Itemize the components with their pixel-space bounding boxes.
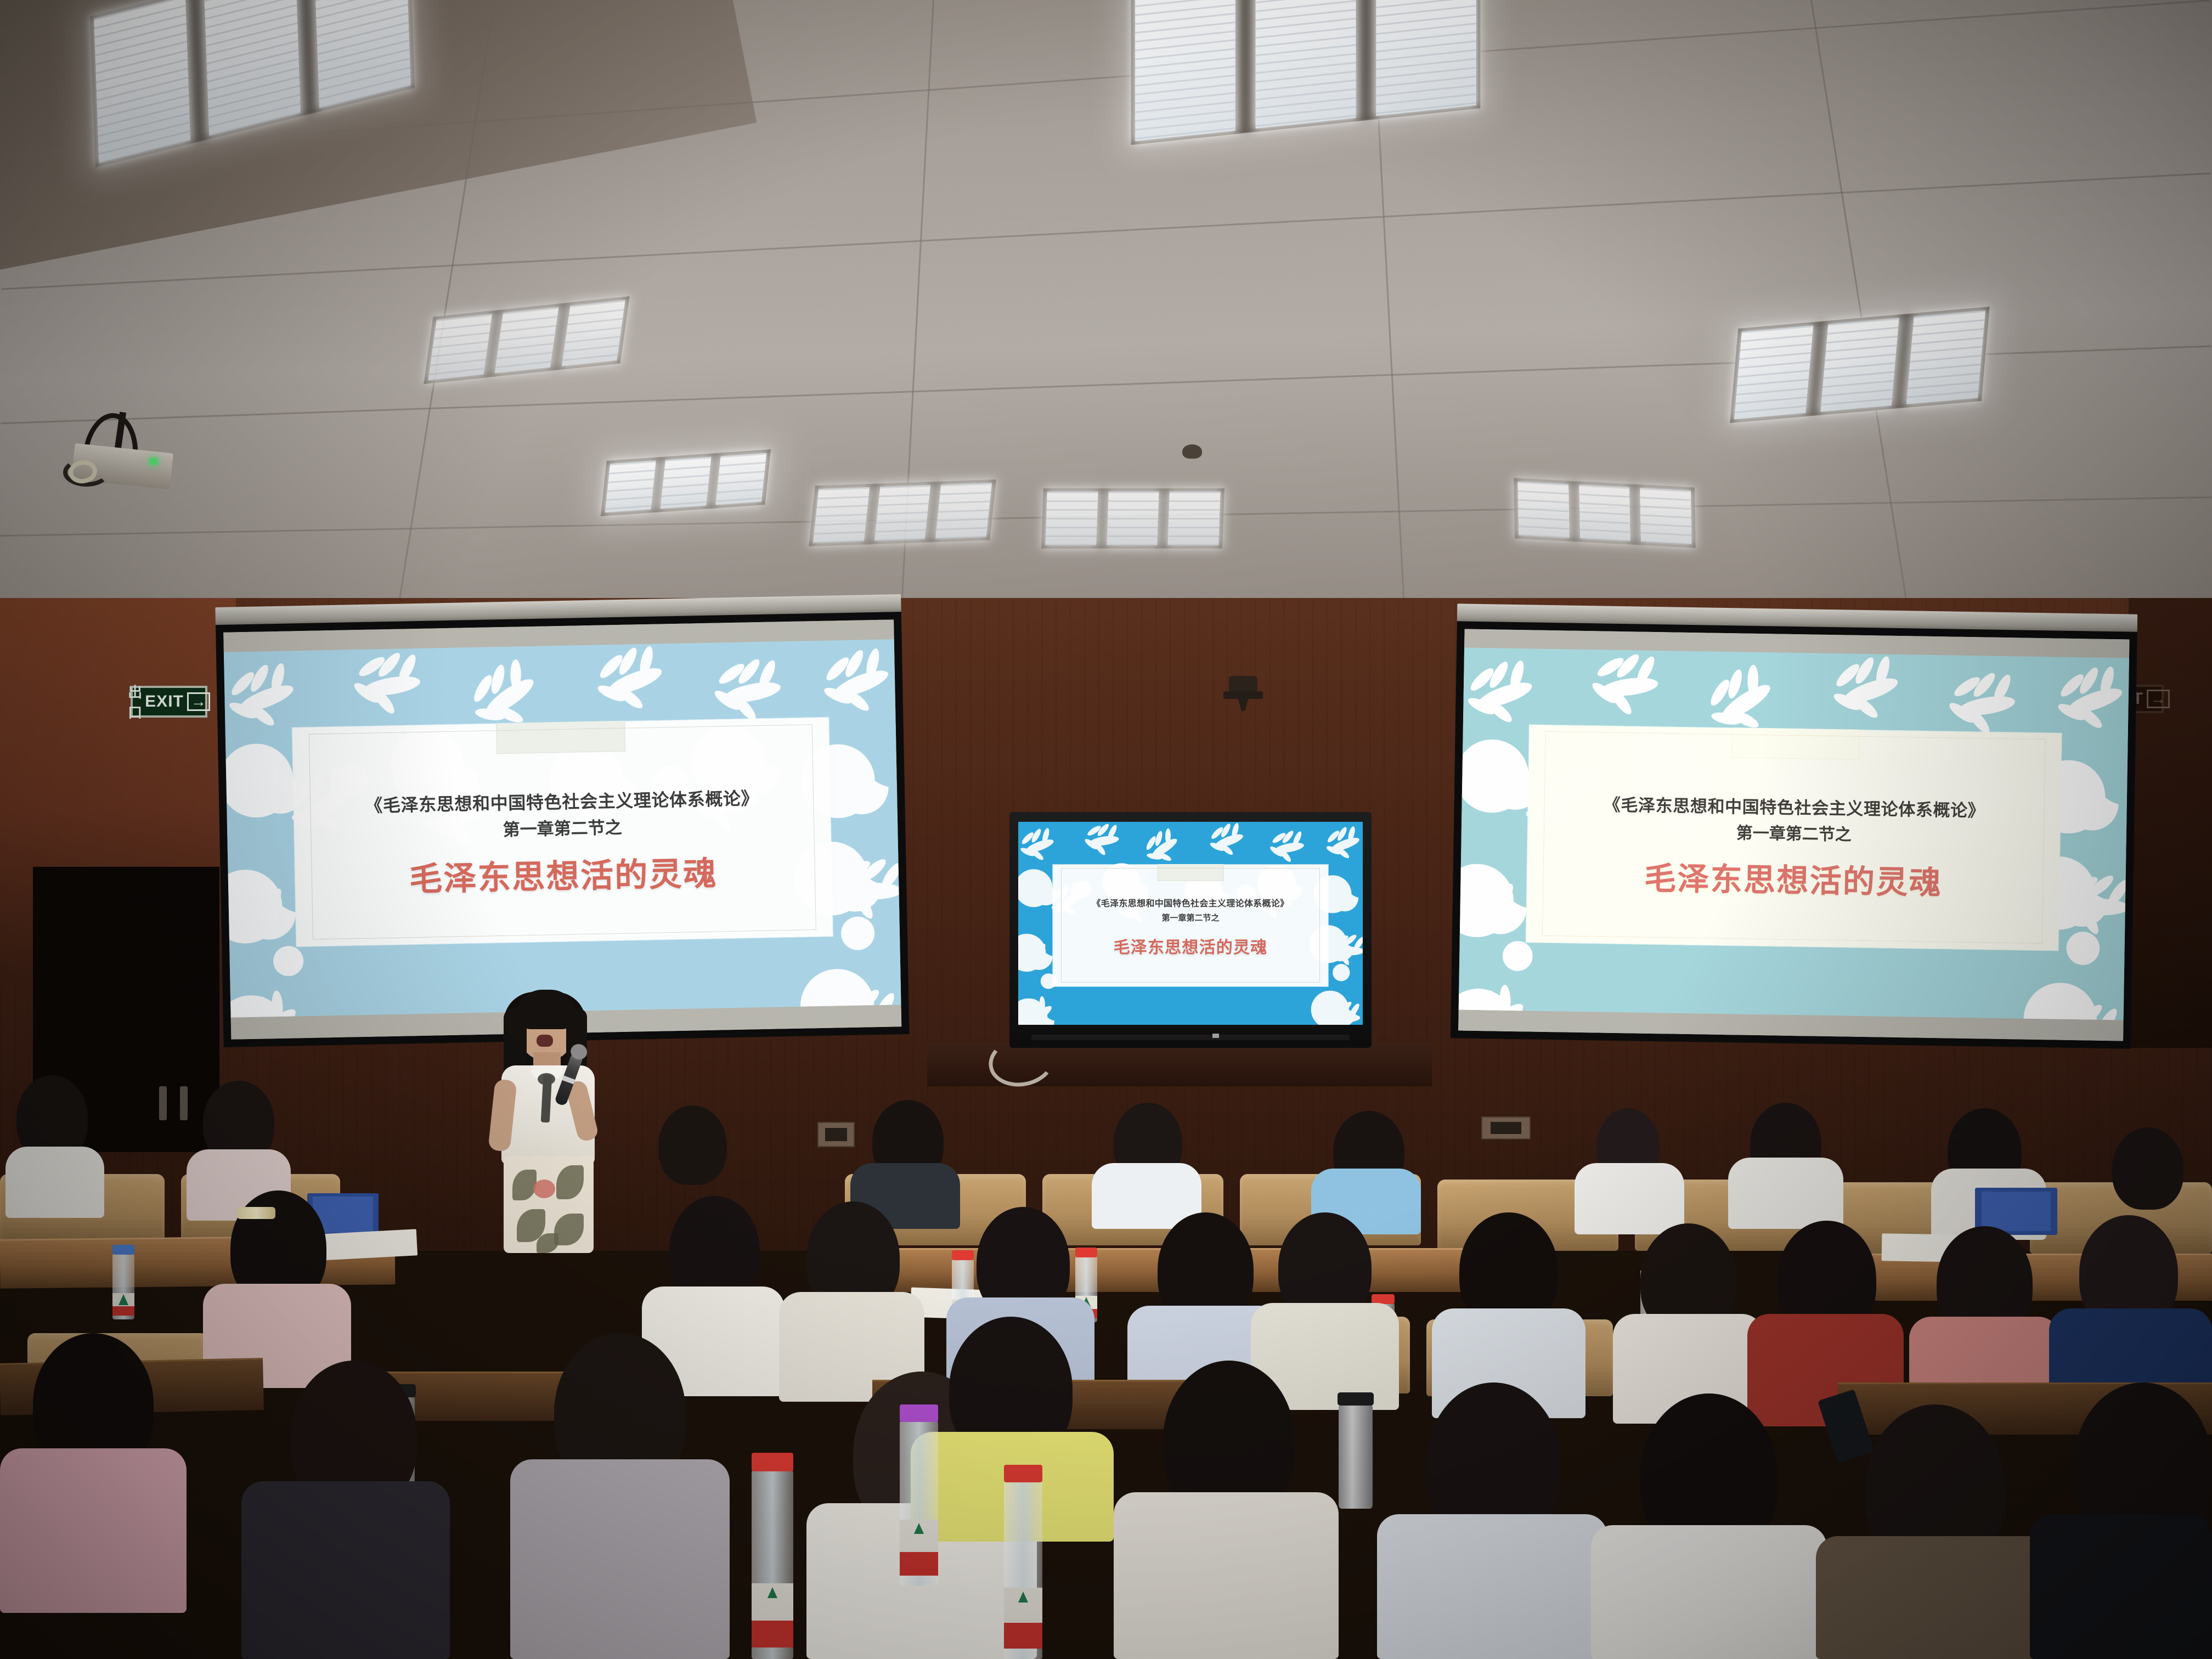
slide-main-title: 毛泽东思想活的灵魂 (1064, 934, 1317, 958)
bottle-cap (112, 1245, 134, 1255)
light-tube (561, 300, 625, 366)
wall-outlet[interactable] (1481, 1116, 1531, 1139)
light-tube (935, 483, 992, 539)
tv-power-led (1212, 1034, 1219, 1038)
ceiling (0, 0, 2212, 620)
wall-outlet[interactable] (817, 1122, 855, 1147)
light-tube (314, 0, 411, 109)
ceiling-light-fixture (601, 449, 771, 516)
light-tube (1640, 488, 1691, 544)
light-tube (1734, 325, 1813, 419)
handout-paper[interactable] (837, 1503, 897, 1547)
bottle-cap (1075, 1248, 1097, 1257)
light-tube (1135, 0, 1235, 141)
water-bottle[interactable] (112, 1254, 134, 1319)
slide-text-card: 《毛泽东思想和中国特色社会主义理论体系概论》 第一章第二节之 毛泽东思想活的灵魂 (1053, 865, 1328, 986)
camera-stem (1238, 698, 1249, 711)
audience-body (1575, 1163, 1684, 1234)
ceiling-light-fixture (424, 296, 629, 384)
right-projection-screen: 《毛泽东思想和中国特色社会主义理论体系概论》 第一章第二节之 毛泽东思想活的灵魂 (1451, 603, 2137, 1053)
tv-bezel: 《毛泽东思想和中国特色社会主义理论体系概论》 第一章第二节之 毛泽东思想活的灵魂 (1009, 812, 1372, 1048)
screen-surface: 《毛泽东思想和中国特色社会主义理论体系概论》 第一章第二节之 毛泽东思想活的灵魂 (1458, 629, 2129, 1041)
audience-body (2030, 1514, 2212, 1659)
screen-border: 《毛泽东思想和中国特色社会主义理论体系概论》 第一章第二节之 毛泽东思想活的灵魂 (1451, 621, 2137, 1048)
presenter-floral-skirt (504, 1156, 594, 1253)
presenter (472, 982, 625, 1256)
door-handle-icon[interactable] (159, 1086, 167, 1120)
microphone-band (562, 1075, 575, 1084)
light-tube (1579, 484, 1630, 541)
bottle-label (900, 1520, 938, 1576)
audience-body (1114, 1492, 1339, 1659)
light-tube (1107, 492, 1159, 545)
projector-status-led (150, 458, 157, 465)
exit-arrow-icon: → (187, 692, 210, 711)
light-tube (813, 487, 870, 543)
light-tube (660, 457, 711, 509)
audience-body (1728, 1158, 1843, 1229)
ceiling-smoke-detector-icon (1182, 444, 1202, 459)
light-tube (495, 307, 558, 374)
camera-bracket (1223, 691, 1263, 699)
light-tube (1045, 492, 1098, 545)
water-bottle[interactable] (1004, 1481, 1042, 1659)
ceiling-light-fixture (1730, 307, 1989, 423)
audience-body (241, 1481, 450, 1659)
ceiling-light-fixture (809, 479, 996, 546)
slide-text-card: 《毛泽东思想和中国特色社会主义理论体系概论》 第一章第二节之 毛泽东思想活的灵魂 (1526, 725, 2062, 950)
ceiling-light-fixture (1041, 488, 1224, 549)
audience-body (1816, 1536, 2057, 1659)
water-bottle[interactable] (900, 1421, 938, 1585)
light-tube (1906, 311, 1985, 404)
ceiling-light-fixture (1131, 0, 1480, 145)
wall-camera-icon (1223, 676, 1263, 712)
center-tv-monitor: 《毛泽东思想和中国特色社会主义理论体系概论》 第一章第二节之 毛泽东思想活的灵魂 (1009, 812, 1372, 1048)
right-wall (2129, 598, 2212, 1048)
exit-sign-english-label: EXIT (145, 692, 184, 711)
exit-arrow-icon: → (2147, 690, 2170, 708)
thermos-cap (1338, 1392, 1374, 1406)
light-tube (428, 314, 492, 380)
slide-main-title: 毛泽东思想活的灵魂 (1548, 851, 2038, 905)
bottle-label (752, 1583, 793, 1647)
hair-clip (237, 1207, 275, 1219)
screen-surface: 《毛泽东思想和中国特色社会主义理论体系概论》 第一章第二节之 毛泽东思想活的灵魂 (223, 619, 901, 1039)
light-tube (204, 0, 301, 136)
light-tube (94, 0, 190, 163)
exit-sign-chinese-label: 出口 (128, 681, 142, 722)
light-tube (1517, 482, 1569, 538)
bottle-cap (1004, 1465, 1042, 1482)
light-tube (1820, 318, 1899, 411)
bottle-cap (752, 1453, 793, 1471)
presenter-mouth (537, 1035, 553, 1047)
slide-main-title: 毛泽东思想活的灵魂 (316, 845, 810, 902)
exit-sign-left: 出口 EXIT → (131, 686, 207, 718)
bottle-cap (952, 1250, 974, 1260)
light-tube (715, 453, 766, 505)
slide-book-title: 《毛泽东思想和中国特色社会主义理论体系概论》 (1064, 896, 1317, 909)
slide-canvas: 《毛泽东思想和中国特色社会主义理论体系概论》 第一章第二节之 毛泽东思想活的灵魂 (224, 639, 901, 1017)
audience-body (0, 1448, 187, 1613)
door-handle-icon[interactable] (180, 1086, 188, 1120)
audience-body (5, 1147, 104, 1218)
slide-canvas: 《毛泽东思想和中国特色社会主义理论体系概论》 第一章第二节之 毛泽东思想活的灵魂 (1018, 822, 1363, 1025)
bottle-label (112, 1293, 134, 1316)
ceiling-projector (52, 403, 189, 502)
light-tube (605, 461, 656, 513)
tv-stand-bar (1031, 1035, 1350, 1040)
audience-body (1377, 1514, 1607, 1659)
light-tube (1376, 0, 1477, 116)
light-tube (1256, 0, 1356, 128)
audience-head (2112, 1127, 2183, 1210)
handout-paper[interactable] (318, 1229, 417, 1260)
lecture-hall-photo: 出口 EXIT → 出口 EXIT → (0, 0, 2212, 1659)
light-tube (1168, 492, 1221, 545)
bottle-label (1004, 1588, 1042, 1648)
slide-canvas: 《毛泽东思想和中国特色社会主义理论体系概论》 第一章第二节之 毛泽东思想活的灵魂 (1459, 648, 2129, 1020)
water-bottle[interactable] (752, 1470, 793, 1659)
audience-body (1591, 1525, 1827, 1659)
thermos-flask[interactable] (1339, 1404, 1373, 1509)
ceiling-light-fixture (1514, 478, 1695, 548)
audience-body (510, 1459, 730, 1659)
light-tube (874, 485, 931, 541)
audience-head (658, 1105, 727, 1185)
slide-text-card: 《毛泽东思想和中国特色社会主义理论体系概论》 第一章第二节之 毛泽东思想活的灵魂 (292, 718, 833, 947)
slide-section-label: 第一章第二节之 (1064, 912, 1317, 923)
bottle-cap (900, 1404, 938, 1422)
ceiling-grid-line (1810, 0, 1909, 612)
slide-card-border (1061, 868, 1320, 983)
